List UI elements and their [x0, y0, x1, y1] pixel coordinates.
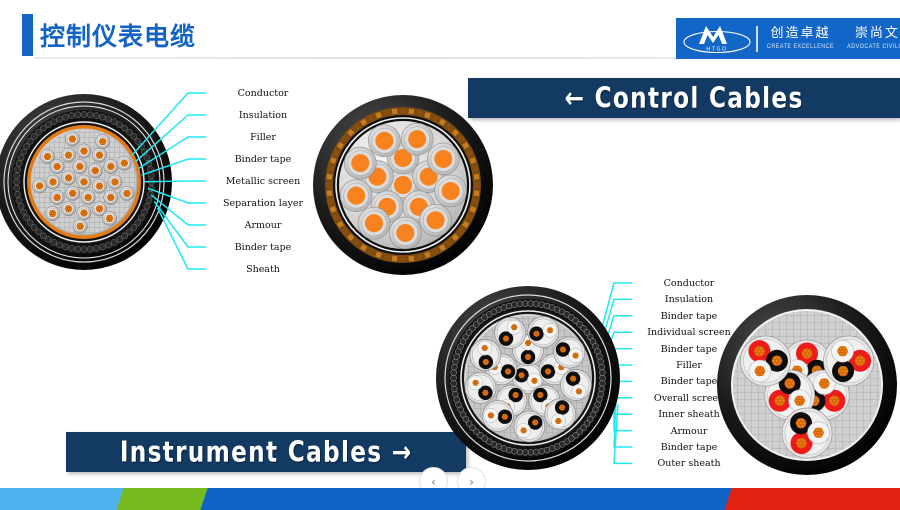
diagram-label: Conductor	[640, 278, 738, 289]
leader-line	[135, 115, 206, 162]
control-cable-braided-cross-section	[310, 92, 496, 283]
chevron-left-icon: ‹	[431, 475, 436, 489]
footer-segment-green	[116, 488, 209, 510]
diagram-label: Binder tape	[214, 242, 312, 253]
leader-line	[148, 188, 206, 203]
control-cable-label-list: ConductorInsulationFillerBinder tapeMeta…	[214, 88, 314, 288]
leader-line	[145, 181, 206, 182]
diagram-label: Binder tape	[214, 154, 312, 165]
diagram-label: Metallic screen	[214, 176, 312, 187]
diagram-label: Separation layer	[214, 198, 312, 209]
diagram-label: Conductor	[214, 88, 312, 99]
diagram-label: Filler	[214, 132, 312, 143]
footer-segment-lightblue	[0, 488, 126, 510]
chevron-right-icon: ›	[469, 475, 474, 489]
footer-segment-blue	[200, 488, 733, 510]
leader-line	[132, 93, 206, 155]
footer-segment-red	[724, 488, 900, 510]
diagram-label: Insulation	[214, 110, 312, 121]
diagram-label: Sheath	[214, 264, 312, 275]
leader-line	[142, 159, 206, 175]
instrument-cable-triples-cross-section	[714, 292, 900, 483]
diagram-label: Armour	[214, 220, 312, 231]
slide-canvas: 控制仪表电缆 HTGD 创造卓越 CREATE EXCELLENCE 崇尚文明 …	[0, 0, 900, 510]
footer-color-bar	[0, 488, 900, 510]
instrument-cable-pairs-cross-section	[432, 280, 624, 481]
